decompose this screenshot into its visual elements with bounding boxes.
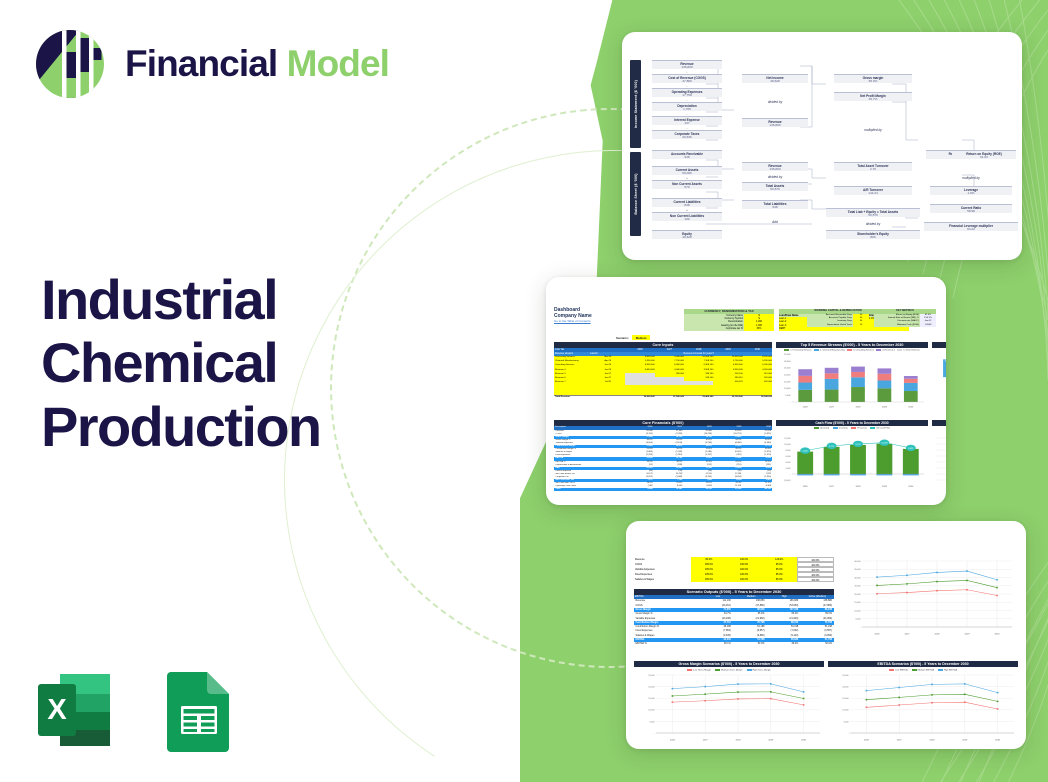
revenue-scenarios-plot: 40,00035,00030,00025,00020,00015,00010,0… [842,557,1016,637]
chart-revenue-scenarios: 40,00035,00030,00025,00020,00015,00010,0… [842,557,1016,642]
page-title-line-1: Industrial [41,268,441,331]
svg-text:4,000: 4,000 [785,462,791,464]
dupont-operator-text: multiplied by [834,128,912,132]
dupont-node: Net Income48,628 [742,74,808,83]
svg-text:15,000: 15,000 [648,698,655,700]
logo-word-financial: Financial [125,43,277,84]
svg-text:20,000: 20,000 [648,687,655,689]
svg-text:-: - [848,733,849,735]
svg-text:12,000: 12,000 [784,438,791,440]
dupont-operator-text: multiplied by [926,176,1016,180]
svg-text:10,000: 10,000 [854,610,861,612]
svg-text:X: X [47,694,67,726]
dupont-node: Current Liabilities848 [652,198,722,207]
svg-text:2030: 2030 [995,634,1001,636]
svg-text:5,000: 5,000 [785,395,791,397]
screenshot-card-dupont[interactable]: Income Statement ($ '000) Balance Sheet … [622,32,1022,260]
svg-text:26,900: 26,900 [945,360,946,362]
dupont-operator-text: divided by [834,222,912,226]
svg-text:2028: 2028 [935,634,941,636]
dupont-node: Operating Expenses17,758 [652,88,722,97]
table-core-inputs: Core Inputs Cost Tax 2026 2027 2028 2029… [554,342,772,399]
svg-text:35,000: 35,000 [854,569,861,571]
svg-text:30,000: 30,000 [854,577,861,579]
chart-investment-payback: Investment Payback Chart ($'000) - 5 Yea… [932,420,946,495]
scenario-output-rows: Revenue111,130138,863166,680138,880COGS(… [634,599,834,646]
svg-text:10,000: 10,000 [648,710,655,712]
chart-gross-margin-scenarios: Gross Margin Scenarios ($'000) - 5 Years… [634,661,824,748]
microsoft-excel-icon[interactable]: X [30,666,118,759]
core-inputs-rows: Processing ServicesMar-268,850,0003,060,… [554,356,772,399]
dupont-node: Shareholder's Equity800 [826,230,920,239]
svg-text:2026: 2026 [875,634,881,636]
dupont-operator-text: divided by [742,175,808,179]
svg-text:15,000: 15,000 [854,602,861,604]
dupont-node: Total Asset Turnover2.70 [834,162,912,171]
table-core-financials: Core Financials ($'000) Description 2026… [554,420,772,491]
svg-text:10,000: 10,000 [784,444,791,446]
svg-text:2030: 2030 [908,486,914,488]
svg-text:10,000: 10,000 [842,710,849,712]
svg-text:8,770: 8,770 [829,446,835,448]
gross-margin-plot: 25,00020,00015,00010,0005,000-2026202720… [634,671,824,743]
svg-text:5,000: 5,000 [855,619,861,621]
table-row: Salaries & Wages105.0%100.0%95.0%100.0% [634,577,834,582]
table-scenario-outputs: Scenario Outputs ($'000) - 5 Years to De… [634,589,834,647]
svg-text:-: - [790,402,791,404]
svg-text:20,000: 20,000 [854,594,861,596]
dupont-nodes: Income Statement ($ '000) Balance Sheet … [630,58,1014,238]
panel-currency-denomination-tax: CURRENCY, DENOMINATION & TAX Currency Na… [684,309,774,331]
svg-text:-: - [654,733,655,735]
svg-text:2030: 2030 [995,740,1001,742]
page-title: Industrial Chemical Production [41,268,441,458]
file-format-icons: X [30,666,237,759]
svg-text:20,000: 20,000 [784,374,791,376]
ebitda-plot: 25,00020,00015,00010,0005,000-2026202720… [828,671,1018,743]
svg-text:25,000: 25,000 [842,675,849,677]
svg-text:-: - [790,474,791,476]
dupont-node: Revenue136,800 [742,118,808,127]
profitability-plot: 26,90010,630202627,90010,765202729,40011… [932,352,946,410]
dupont-sheet: Income Statement ($ '000) Balance Sheet … [622,32,1022,260]
circle-bar-chart-logo-icon [32,26,108,102]
dupont-node: Net Profit Margin35.7% [834,92,912,101]
dupont-node: Cost of Revenue (COGS)47,880 [652,74,722,83]
dupont-node: Total Liabilities948 [742,200,808,209]
dupont-node: Total Liab + Equity = Total Assets50,576 [826,208,920,217]
dashboard-sheet: Dashboard Company Name Go to the Table o… [554,307,938,495]
logo-word-model: Model [287,43,389,84]
svg-text:2026: 2026 [670,740,676,742]
dupont-node: Revenue136,800 [652,60,722,69]
page-title-line-2: Chemical [41,331,441,394]
dupont-node: Non Current Assets570 [652,180,722,189]
dupont-node: Leverage1.9% [930,186,1012,195]
svg-text:-: - [860,627,861,629]
chart-cash-flow: Cash Flow ($'000) - 5 Years to December … [776,420,928,495]
screenshot-card-dashboard[interactable]: Dashboard Company Name Go to the Table o… [546,277,946,505]
svg-text:15,000: 15,000 [784,381,791,383]
svg-text:25,000: 25,000 [784,368,791,370]
svg-text:40,000: 40,000 [854,561,861,563]
panel-rows: Currency Name$ Currency Symbol$ Denomina… [684,314,774,331]
page-title-line-3: Production [41,395,441,458]
svg-text:2027: 2027 [703,740,709,742]
logo-wordmark: Financial Model [125,43,389,85]
svg-text:2027: 2027 [897,740,903,742]
svg-text:25,000: 25,000 [648,675,655,677]
svg-text:2029: 2029 [882,486,888,488]
dupont-node: Corporate Taxes20,636 [652,130,722,139]
scenario-selector[interactable]: Scenario: Medium [616,335,650,340]
svg-text:9,152: 9,152 [855,444,861,446]
dupont-node: Gross margin65.0% [834,74,912,83]
dupont-node: Interest Expense137 [652,116,722,125]
payback-plot: 70,00060,00050,00040,00030,00020,00010,0… [932,430,946,490]
svg-text:2028: 2028 [736,740,742,742]
dupont-node: Revenue136,800 [742,162,808,171]
dupont-node: Depreciation1,765 [652,102,722,111]
screenshot-card-scenarios[interactable]: Revenue80.0%100.0%120.0%100.0%COGS105.0%… [626,521,1026,749]
stacked-bar-plot: 35,00030,00025,00020,00015,00010,0005,00… [776,352,928,410]
dupont-operator-text: divided by [742,100,808,104]
svg-text:2029: 2029 [882,406,888,408]
table-of-contents-link[interactable]: Go to the Table of Contents [554,320,592,324]
brand-logo: Financial Model [32,26,389,102]
scenario-sheet: Revenue80.0%100.0%120.0%100.0%COGS105.0%… [634,557,1018,739]
svg-text:2028: 2028 [856,406,862,408]
dupont-node: Current Assets50,006 [652,166,722,175]
svg-text:25,000: 25,000 [854,586,861,588]
svg-text:6,464: 6,464 [803,450,809,452]
chart-ebitda-scenarios: EBITDA Scenarios ($'000) - 5 Years to De… [828,661,1018,748]
dupont-node: Equity49,628 [652,230,722,239]
svg-text:2030: 2030 [908,406,914,408]
table-row: EBITDA %60.1%52.0%49.0%52.0% [634,642,834,646]
svg-text:10,000: 10,000 [784,388,791,390]
chart-profitability: Profitability ($'000) - 5 Years to Decem… [932,342,946,415]
google-sheets-icon[interactable] [159,666,237,759]
svg-text:2027: 2027 [829,406,835,408]
svg-text:2026: 2026 [803,486,809,488]
svg-text:5,000: 5,000 [649,721,655,723]
dupont-node: Financial Leverage multiplier63.22 [924,222,1018,231]
cash-flow-plot: 12,00010,0008,0006,0004,0002,000-(2,000)… [776,430,928,490]
dupont-node-roe: Return on Equity (ROE)61.03 [952,150,1016,159]
svg-text:30,000: 30,000 [784,361,791,363]
table-row: Cash8,46410,34116,74225,14544,192 [554,488,772,491]
svg-text:2030: 2030 [801,740,807,742]
dupont-node: Non Current Liabilities100 [652,212,722,221]
panel-wc-dep: WORKING CAPITAL & DEPRECIATION Accounts … [807,309,869,327]
chart-top5-revenue-streams: Top 5 Revenue Streams ($'000) - 5 Years … [776,342,928,415]
svg-text:5,000: 5,000 [843,721,849,723]
svg-text:2027: 2027 [905,634,911,636]
dupont-node: Accounts Receivable948 [652,150,722,159]
svg-text:10,598: 10,598 [881,443,888,445]
svg-text:8,000: 8,000 [785,450,791,452]
svg-text:(2,000): (2,000) [784,480,791,482]
svg-text:15,000: 15,000 [842,698,849,700]
dupont-node: A/R Turnover144.24 [834,186,912,195]
svg-text:2029: 2029 [768,740,774,742]
svg-text:35,000: 35,000 [784,354,791,356]
svg-text:2026: 2026 [803,406,809,408]
dupont-spine-balance-sheet: Balance Sheet ($ '000) [630,152,641,236]
svg-text:6,000: 6,000 [785,456,791,458]
poster-canvas: Financial Model Industrial Chemical Prod… [0,0,1048,782]
dupont-node: Current Ratio58.98 [930,204,1012,213]
svg-text:8,033: 8,033 [908,448,914,450]
dashboard-heading: Dashboard Company Name Go to the Table o… [554,307,592,323]
svg-text:20,000: 20,000 [842,687,849,689]
scenario-value[interactable]: Medium [632,335,651,340]
dupont-node: Total Assets50,576 [742,182,808,191]
scenario-assumptions-table: Revenue80.0%100.0%120.0%100.0%COGS105.0%… [634,557,834,582]
svg-text:2027: 2027 [829,486,835,488]
core-financials-rows: Revenue26,90027,90029,40030,13525,528COG… [554,430,772,492]
svg-text:2029: 2029 [965,634,971,636]
svg-text:2,000: 2,000 [785,468,791,470]
dupont-operator-text: Add [742,220,808,224]
dupont-spine-income-statement: Income Statement ($ '000) [630,60,641,148]
svg-text:2028: 2028 [930,740,936,742]
svg-text:2026: 2026 [864,740,870,742]
panel-key-metrics: KEY METRICS Return on Equity (ROE)61.0% … [874,309,936,327]
svg-text:2028: 2028 [856,486,862,488]
svg-text:2029: 2029 [962,740,968,742]
